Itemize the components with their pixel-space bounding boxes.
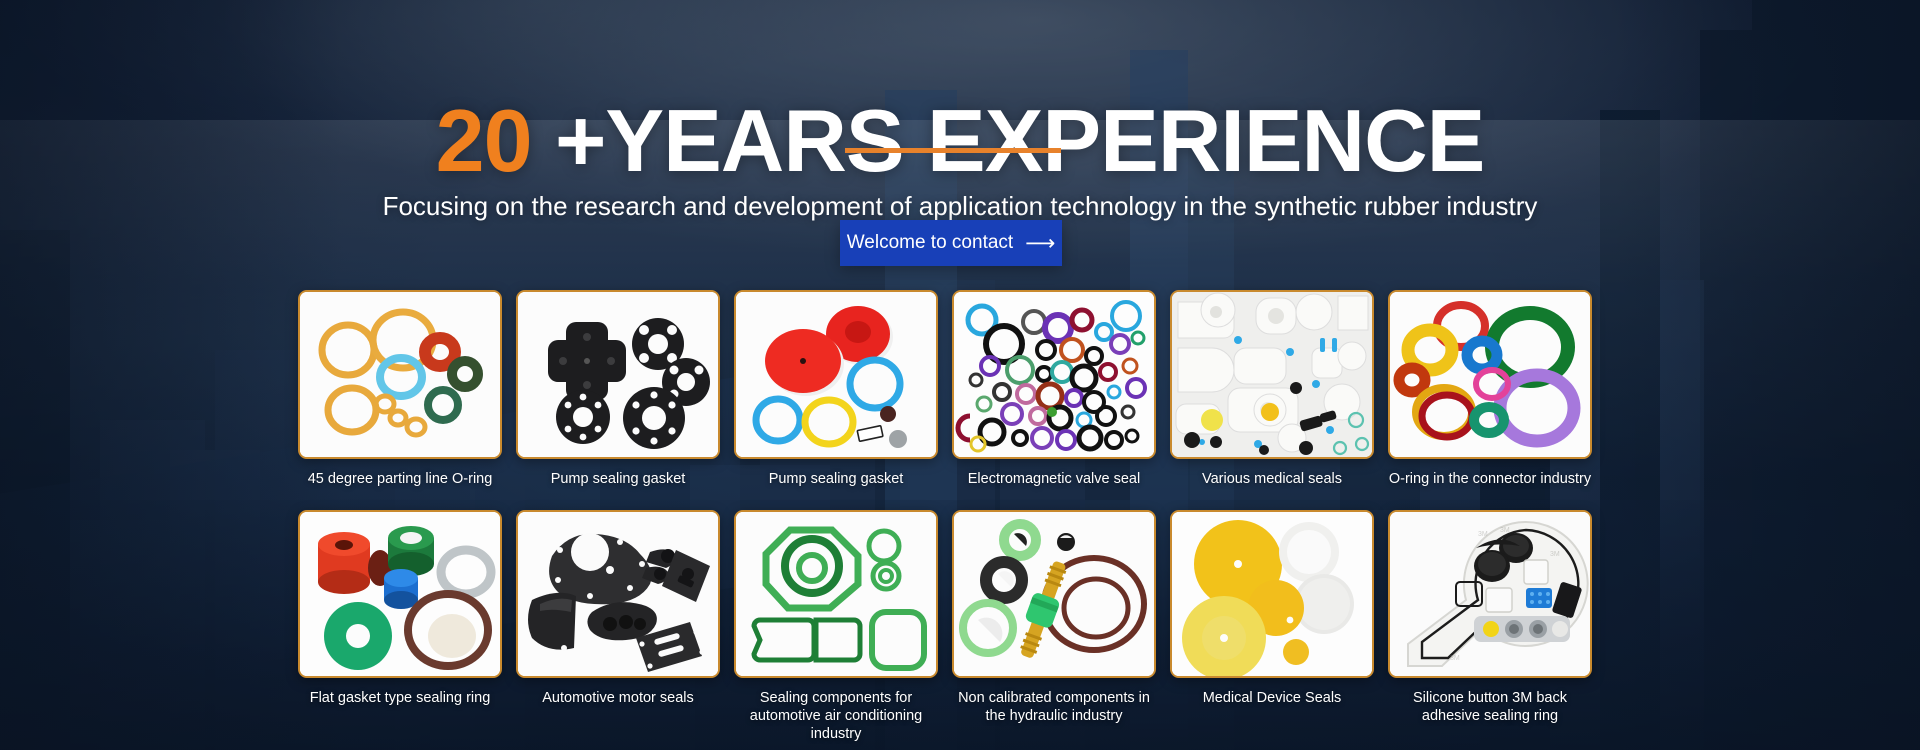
product-card-various-medical-seals[interactable] [1170,290,1374,459]
svg-text:3M: 3M [1450,655,1460,662]
gallery-item: O-ring in the connector industry [1390,290,1590,488]
product-caption: Various medical seals [1166,470,1378,488]
gallery-item: Medical Device Seals [1172,510,1372,743]
product-card-silicone-button-3m-adhesive[interactable]: 3M3M 3M3M 3M3M [1388,510,1592,678]
product-image-many-small-colored-orings [954,292,1154,457]
gallery-item: Automotive motor seals [518,510,718,743]
product-gallery-grid: 45 degree parting line O-ring [300,290,1620,744]
product-caption: Pump sealing gasket [512,470,724,488]
gallery-item: 3M3M 3M3M 3M3M [1390,510,1590,743]
product-caption: Silicone button 3M back adhesive sealing… [1384,689,1596,725]
product-image-red-diaphragm-and-rings [736,292,936,457]
welcome-to-contact-button[interactable]: Welcome to contact ⟶ [840,220,1062,266]
product-caption: O-ring in the connector industry [1384,470,1596,488]
product-image-green-ac-sealing-components [736,512,936,676]
product-image-hydraulic-components [954,512,1154,676]
hero-banner: 20 +YEARS EXPERIENCE Focusing on the res… [0,0,1920,750]
years-number: 20 [436,91,532,190]
gallery-item: Electromagnetic valve seal [954,290,1154,488]
gallery-item: Various medical seals [1172,290,1372,488]
product-caption: Medical Device Seals [1166,689,1378,707]
product-image-colored-connector-orings [1390,292,1590,457]
cta-label: Welcome to contact [847,232,1014,254]
product-image-black-pump-gaskets [518,292,718,457]
product-card-pump-sealing-gasket-2[interactable] [734,290,938,459]
gallery-item: Pump sealing gasket [736,290,936,488]
product-image-black-automotive-motor-seals [518,512,718,676]
product-card-oring-connector-industry[interactable] [1388,290,1592,459]
row-spacer [300,488,1590,510]
plus-sign: + [555,91,605,190]
product-caption: Sealing components for automotive air co… [730,689,942,743]
gallery-item: Flat gasket type sealing ring [300,510,500,743]
product-card-pump-sealing-gasket-1[interactable] [516,290,720,459]
product-caption: Electromagnetic valve seal [948,470,1160,488]
svg-text:3M: 3M [1478,531,1488,538]
product-card-hydraulic-non-calibrated-components[interactable] [952,510,1156,678]
product-image-flat-gasket-rings [300,512,500,676]
product-caption: Non calibrated components in the hydraul… [948,689,1160,725]
product-card-automotive-motor-seals[interactable] [516,510,720,678]
gallery-item: 45 degree parting line O-ring [300,290,500,488]
page-title: 20 +YEARS EXPERIENCE [0,97,1920,185]
gallery-item: Non calibrated components in the hydraul… [954,510,1154,743]
product-caption: Flat gasket type sealing ring [294,689,506,707]
product-image-oring-assortment-gold [300,292,500,457]
product-card-ac-sealing-components[interactable] [734,510,938,678]
gallery-item: Sealing components for automotive air co… [736,510,936,743]
gallery-item: Pump sealing gasket [518,290,718,488]
headline-rest: YEARS EXPERIENCE [605,91,1484,190]
svg-text:3M: 3M [1550,551,1560,558]
product-card-medical-device-seals[interactable] [1170,510,1374,678]
product-caption: Pump sealing gasket [730,470,942,488]
arrow-right-icon: ⟶ [1025,233,1055,254]
product-image-white-medical-seals [1172,292,1372,457]
product-image-silicone-button-3m-adhesive: 3M3M 3M3M 3M3M [1390,512,1590,676]
title-underline-rule [845,148,1061,153]
product-card-45-degree-parting-line-oring[interactable] [298,290,502,459]
product-image-yellow-medical-device-seals [1172,512,1372,676]
product-card-flat-gasket-type-sealing-ring[interactable] [298,510,502,678]
product-caption: 45 degree parting line O-ring [294,470,506,488]
product-caption: Automotive motor seals [512,689,724,707]
product-card-electromagnetic-valve-seal[interactable] [952,290,1156,459]
svg-text:3M: 3M [1500,527,1510,534]
page-subtitle: Focusing on the research and development… [0,191,1920,222]
